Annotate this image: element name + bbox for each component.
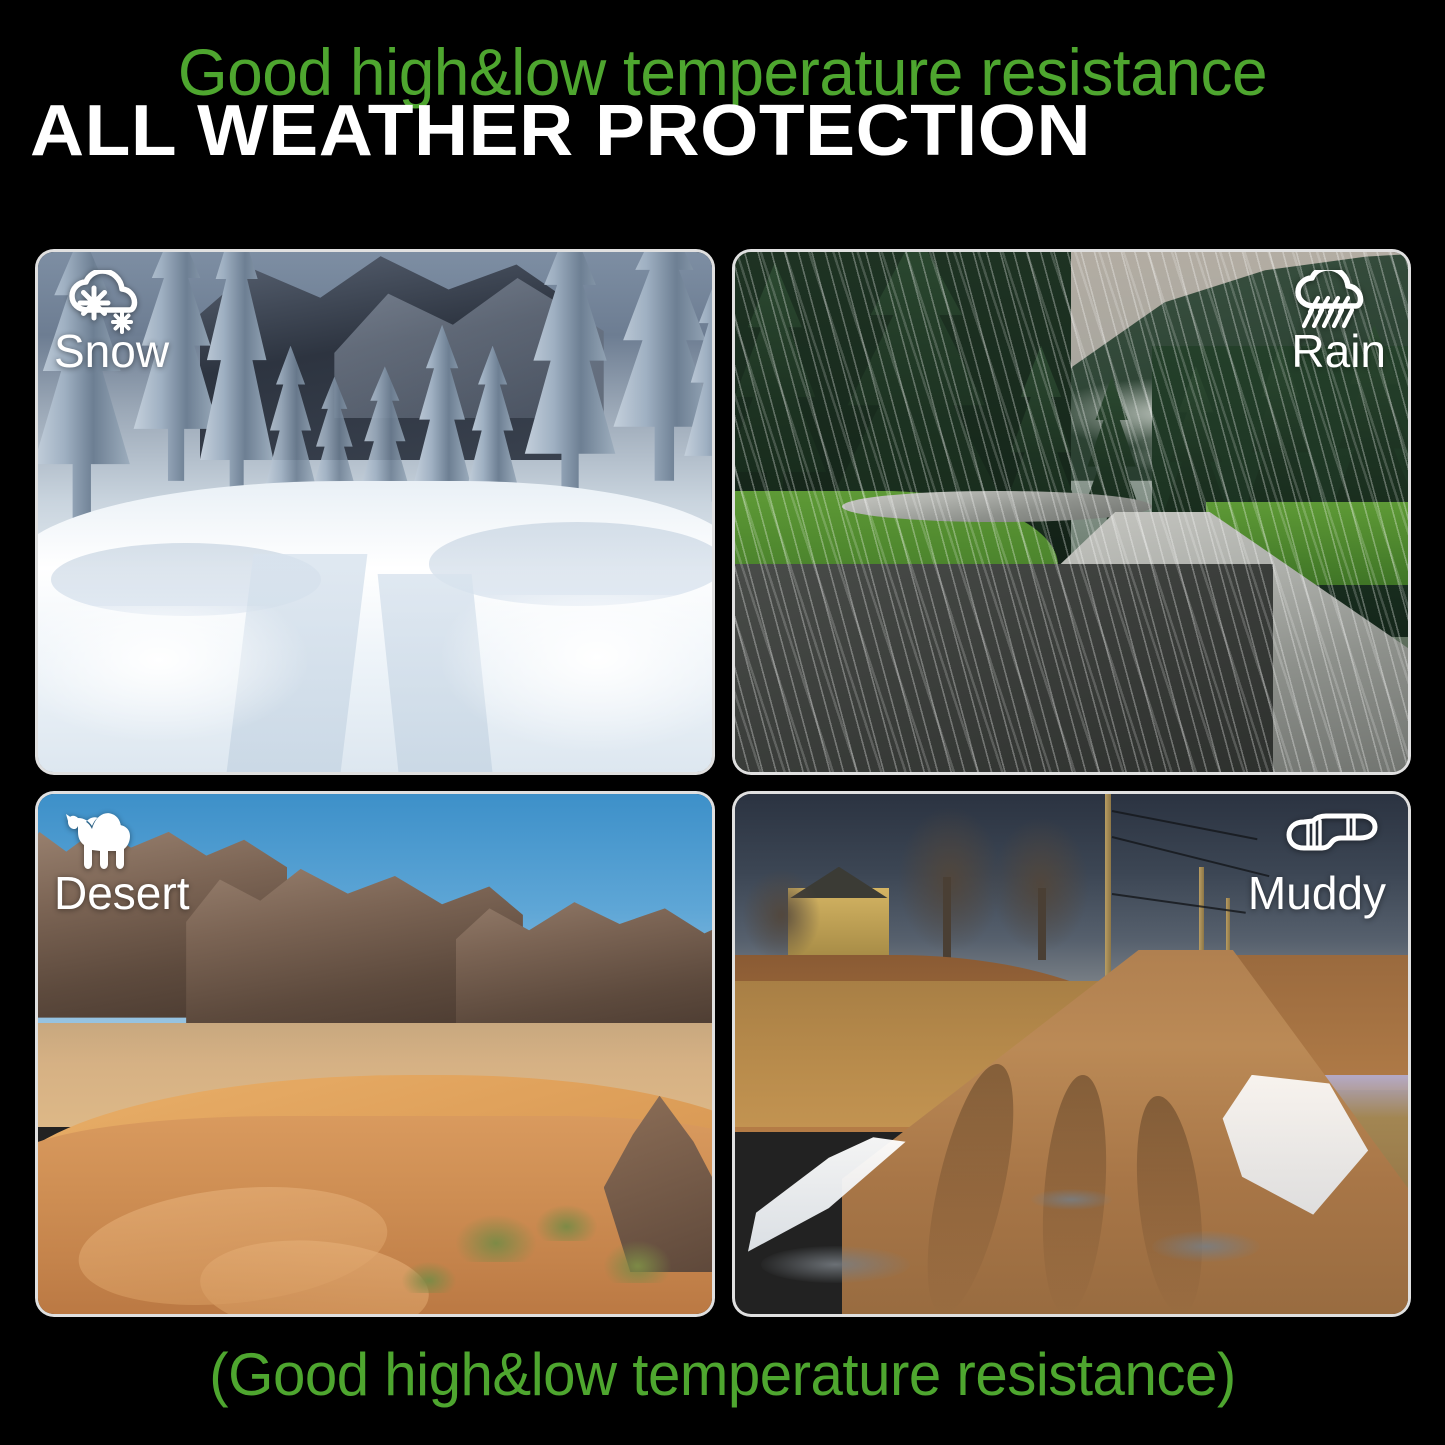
weather-panel-muddy[interactable]: Muddy [735,794,1409,1314]
weather-panel-rain[interactable]: Rain [735,252,1409,772]
weather-panel-desert[interactable]: Desert [38,794,712,1314]
bottom-caption: (Good high&low temperature resistance) [22,1340,1424,1410]
panel-label-muddy: Muddy [1248,812,1382,918]
all-weather-protection-banner: Good high&low temperature resistance ALL… [0,0,1445,1445]
panel-label-text: Muddy [1248,868,1386,918]
panel-label-text: Snow [54,326,169,376]
panel-label-desert: Desert [64,812,189,918]
headline-title-row: ALL WEATHER PROTECTION [0,90,1445,172]
panel-label-text: Desert [54,868,189,918]
panel-label-snow: Snow [64,270,169,376]
weather-panel-grid: Snow [38,252,1408,1314]
weather-panel-snow[interactable]: Snow [38,252,712,772]
panel-label-text: Rain [1291,326,1386,376]
panel-label-rain: Rain [1286,270,1382,376]
page-title: ALL WEATHER PROTECTION [30,90,1091,172]
